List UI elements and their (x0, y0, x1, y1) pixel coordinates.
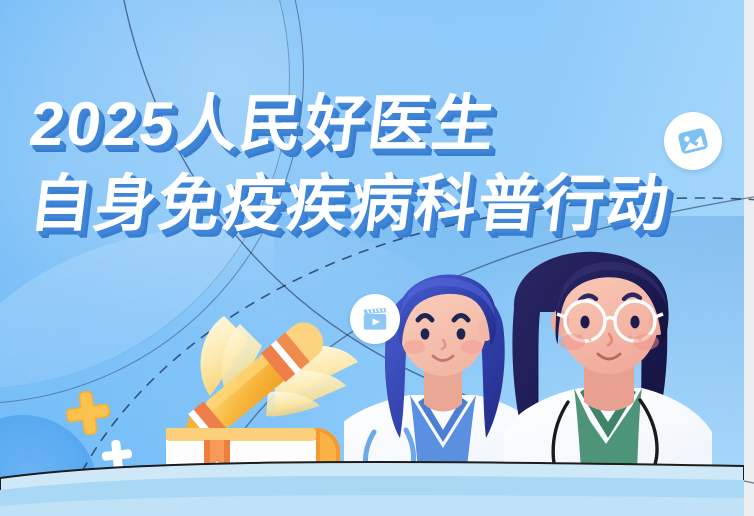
poster-canvas: 2025人民好医生 自身免疫疾病科普行动 (0, 0, 754, 516)
desk-counter (0, 456, 744, 516)
plus-cross-orange (63, 388, 113, 438)
video-badge[interactable] (350, 294, 400, 344)
image-icon (672, 120, 713, 161)
clapperboard-icon (360, 304, 390, 334)
